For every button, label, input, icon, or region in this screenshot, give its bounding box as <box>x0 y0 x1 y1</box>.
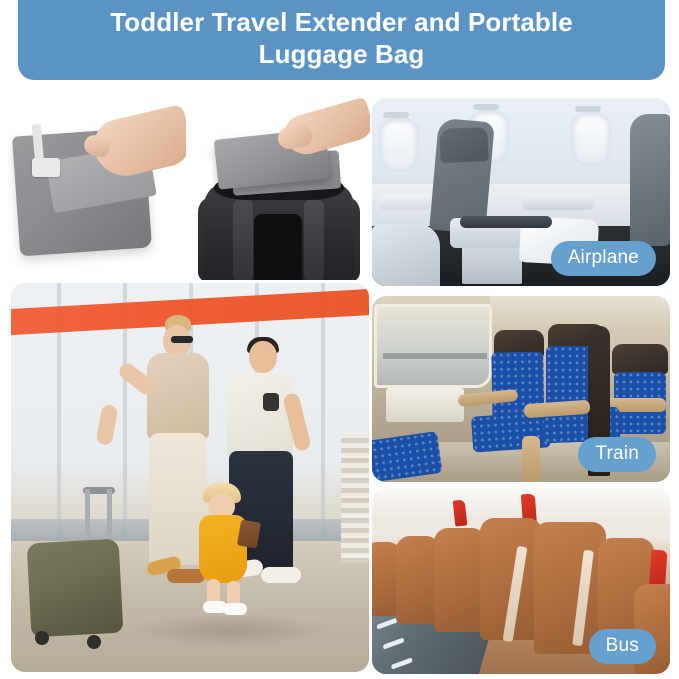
man-sneaker <box>261 567 301 583</box>
bus-seat <box>434 528 486 632</box>
panel-bus: Bus <box>372 488 670 674</box>
platform-rail <box>383 353 487 359</box>
panel-folded-bag <box>8 96 188 280</box>
airplane-headrest <box>439 127 488 163</box>
aisle-marking <box>391 657 412 669</box>
panel-insert-backpack <box>186 96 370 280</box>
badge-bus: Bus <box>589 629 656 664</box>
backpack-left-strap <box>233 200 253 280</box>
train-folding-table <box>386 388 464 422</box>
badge-airplane: Airplane <box>551 241 656 276</box>
suitcase-wheel <box>87 635 101 649</box>
woman-shirt <box>147 353 209 439</box>
woman-sunglasses <box>171 336 193 343</box>
panel-train: Train <box>372 296 670 482</box>
airplane-armrest <box>460 216 552 228</box>
page-title: Toddler Travel Extender and Portable Lug… <box>110 6 573 70</box>
train-headrest <box>612 344 668 374</box>
terminal-stairs <box>341 433 369 563</box>
panel-family-airport <box>11 283 369 672</box>
toddler-shoe <box>223 603 247 615</box>
ground-shadow <box>131 613 331 647</box>
badge-train: Train <box>578 437 656 472</box>
aisle-marking <box>377 617 398 629</box>
aisle-marking <box>383 637 404 649</box>
train-seat-leg <box>522 436 540 482</box>
airplane-seat-right <box>630 114 670 246</box>
suitcase-wheel <box>35 631 49 645</box>
man-shirt <box>227 373 293 457</box>
suitcase-body <box>27 539 124 638</box>
airplane-window <box>378 118 420 174</box>
photo-family-airport <box>11 283 369 672</box>
man-head <box>249 341 277 373</box>
window-mullion <box>321 283 325 541</box>
backpack-inner-compartment <box>254 214 302 280</box>
airplane-window <box>570 112 612 168</box>
photo-insert-backpack <box>186 96 370 280</box>
panel-airplane: Airplane <box>372 98 670 286</box>
train-window <box>374 304 492 388</box>
airplane-seat-foreground <box>372 224 440 286</box>
folded-bag-velcro-tab <box>32 158 60 177</box>
tray-table <box>522 194 594 210</box>
man-sunglasses-on-shirt <box>263 393 279 411</box>
title-banner: Toddler Travel Extender and Portable Lug… <box>18 0 665 80</box>
tray-table <box>378 194 432 210</box>
train-upper-wall <box>490 296 670 326</box>
backpack-right-strap <box>304 200 324 280</box>
photo-folded-bag <box>8 96 188 280</box>
